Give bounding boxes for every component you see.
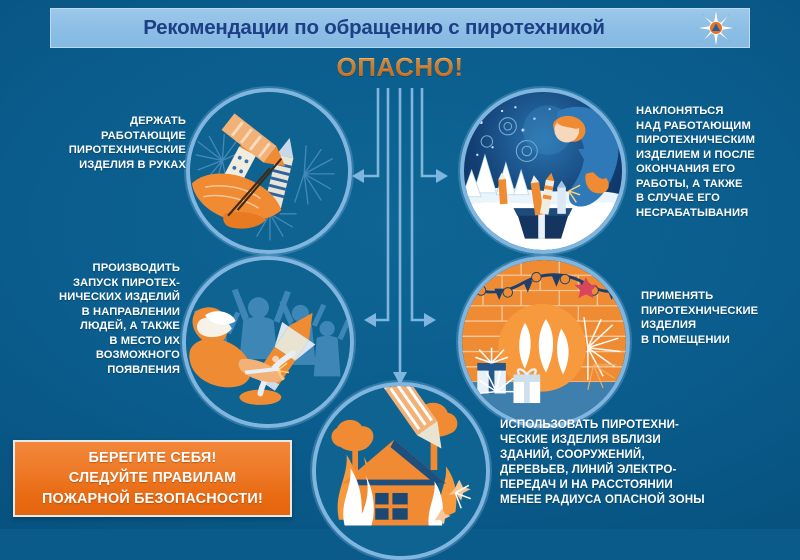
warning-line-1: БЕРЕГИТЕ СЕБЯ! (89, 448, 217, 468)
illustration-use-indoors (458, 256, 630, 428)
page-title: Рекомендации по обращению с пиротехникой (143, 16, 657, 40)
danger-heading: ОПАСНО! (0, 52, 800, 83)
caption-use-indoors: ПРИМЕНЯТЬ ПИРОТЕХНИЧЕСКИЕ ИЗДЕЛИЯ В ПОМЕ… (641, 289, 799, 347)
illustration-hold-in-hands (186, 88, 352, 254)
illustration-lean-over (460, 88, 626, 254)
caption-lean-over: НАКЛОНЯТЬСЯ НАД РАБОТАЮЩИМ ПИРОТЕХНИЧЕСК… (636, 104, 796, 221)
caption-launch-toward-people: ПРОИЗВОДИТЬ ЗАПУСК ПИРОТЕХ- НИЧЕСКИХ ИЗД… (8, 261, 180, 378)
illustration-launch-toward-people (182, 256, 354, 428)
caption-hold-in-hands: ДЕРЖАТЬ РАБОТАЮЩИЕ ПИРОТЕХНИЧЕСКИЕ ИЗДЕЛ… (8, 114, 186, 172)
header-bar: Рекомендации по обращению с пиротехникой (50, 8, 750, 48)
illustration-use-near-buildings (312, 382, 490, 560)
warning-line-2: СЛЕДУЙТЕ ПРАВИЛАМ (69, 468, 237, 488)
emercom-star-logo (697, 9, 735, 47)
poster-canvas: Рекомендации по обращению с пиротехникой… (0, 0, 800, 529)
safety-warning-box: БЕРЕГИТЕ СЕБЯ! СЛЕДУЙТЕ ПРАВИЛАМ ПОЖАРНО… (13, 440, 292, 517)
warning-line-3: ПОЖАРНОЙ БЕЗОПАСНОСТИ! (42, 489, 263, 509)
caption-use-near-buildings: ИСПОЛЬЗОВАТЬ ПИРОТЕХНИ- ЧЕСКИЕ ИЗДЕЛИЯ В… (500, 417, 800, 507)
